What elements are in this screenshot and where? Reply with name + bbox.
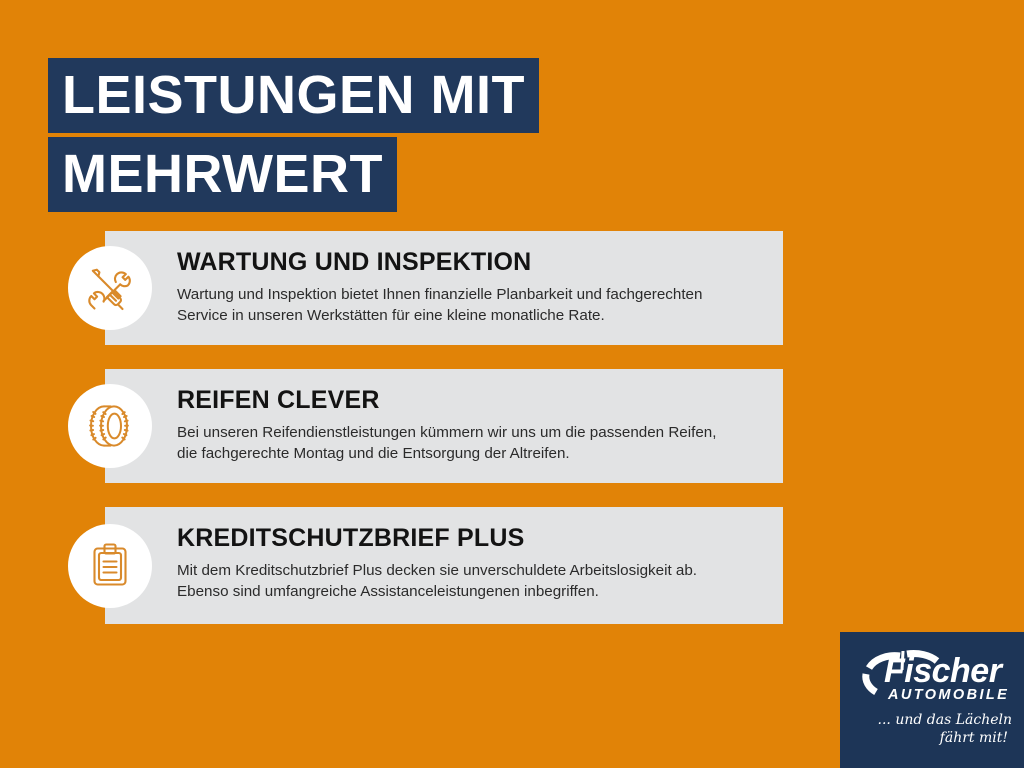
service-card-body: Mit dem Kreditschutzbrief Plus decken si… bbox=[177, 560, 759, 603]
brand-logo-subtitle: AUTOMOBILE bbox=[888, 688, 1009, 703]
service-card-heading: KREDITSCHUTZBRIEF PLUS bbox=[177, 525, 759, 553]
brand-logo-wordmark: Fischer bbox=[884, 654, 1001, 688]
service-card-body: Bei unseren Reifendienstleistungen kümme… bbox=[177, 422, 759, 465]
tire-icon bbox=[68, 384, 152, 468]
service-card-reifen-clever: REIFEN CLEVER Bei unseren Reifendienstle… bbox=[105, 369, 783, 483]
service-card-body-line-1: Bei unseren Reifendienstleistungen kümme… bbox=[177, 422, 759, 444]
service-card-body-line-2: die fachgerechte Montag und die Entsorgu… bbox=[177, 443, 759, 465]
slide-root: LEISTUNGEN MIT MEHRWERT WARTUNG UND INSP… bbox=[0, 0, 1024, 768]
wrench-screwdriver-icon bbox=[68, 246, 152, 330]
service-card-body-line-1: Mit dem Kreditschutzbrief Plus decken si… bbox=[177, 560, 759, 582]
service-card-heading: REIFEN CLEVER bbox=[177, 387, 759, 415]
brand-logo-tagline-line-2: fährt mit! bbox=[862, 730, 1012, 748]
page-title-line-2: MEHRWERT bbox=[48, 137, 397, 212]
brand-logo-tagline-line-1: ... und das Lächeln bbox=[862, 712, 1012, 730]
page-title: LEISTUNGEN MIT MEHRWERT bbox=[48, 58, 539, 212]
service-card-body-line-1: Wartung und Inspektion bietet Ihnen fina… bbox=[177, 284, 759, 306]
page-title-line-1: LEISTUNGEN MIT bbox=[48, 58, 539, 133]
service-card-wartung-und-inspektion: WARTUNG UND INSPEKTION Wartung und Inspe… bbox=[105, 231, 783, 345]
brand-logo-tagline: ... und das Lächeln fährt mit! bbox=[862, 712, 1012, 747]
service-card-kreditschutzbrief-plus: KREDITSCHUTZBRIEF PLUS Mit dem Kreditsch… bbox=[105, 507, 783, 624]
brand-logo: Fischer AUTOMOBILE ... und das Lächeln f… bbox=[840, 632, 1024, 768]
clipboard-icon bbox=[68, 524, 152, 608]
service-card-body-line-2: Ebenso sind umfangreiche Assistanceleist… bbox=[177, 581, 759, 603]
service-card-body: Wartung und Inspektion bietet Ihnen fina… bbox=[177, 284, 759, 327]
service-card-heading: WARTUNG UND INSPEKTION bbox=[177, 249, 759, 277]
service-card-body-line-2: Service in unseren Werkstätten für eine … bbox=[177, 305, 759, 327]
